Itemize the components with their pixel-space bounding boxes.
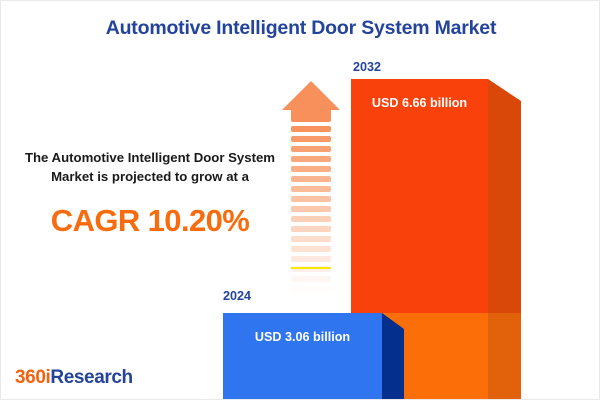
arrow-stripe [291,166,331,172]
arrow-stripe [291,146,331,152]
bar-2024-year-label: 2024 [223,289,251,303]
arrow-stripe [291,136,331,142]
bar-2032-side-top [488,79,521,101]
arrow-stripe [291,246,331,252]
arrow-highlight-line [291,267,331,269]
infographic-canvas: Automotive Intelligent Door System Marke… [0,0,600,400]
arrow-stripe [291,216,331,222]
arrow-stripe [291,256,331,262]
growth-arrow-icon [289,81,333,289]
arrow-stripe [291,196,331,202]
bar-2024-front [223,313,382,400]
cagr-value: CAGR 10.20% [19,203,281,239]
logo-text-primary: 360i [15,367,50,388]
bar-2032-value-label: USD 6.66 billion [351,96,488,110]
bar-2024-value-label: USD 3.06 billion [223,330,382,344]
arrow-stripe [291,226,331,232]
arrow-stripe [291,176,331,182]
arrow-neck [291,109,331,122]
arrow-stripe [291,126,331,132]
brand-logo: 360iResearch [15,367,133,389]
bar-2024-side-top [382,313,404,329]
arrow-stripe [291,156,331,162]
arrow-stripe [291,186,331,192]
market-description: The Automotive Intelligent Door System M… [19,149,281,186]
arrow-stripe [291,276,331,282]
bar-2032-year-label: 2032 [353,60,381,74]
arrow-stripe [291,286,331,292]
arrow-stripe [291,236,331,242]
arrow-head-icon [282,81,340,110]
bar-2032-side-lower [488,313,521,400]
page-title: Automotive Intelligent Door System Marke… [1,17,600,40]
bar-2024-side [382,329,404,400]
logo-text-secondary: Research [50,367,132,388]
arrow-stripe [291,206,331,212]
